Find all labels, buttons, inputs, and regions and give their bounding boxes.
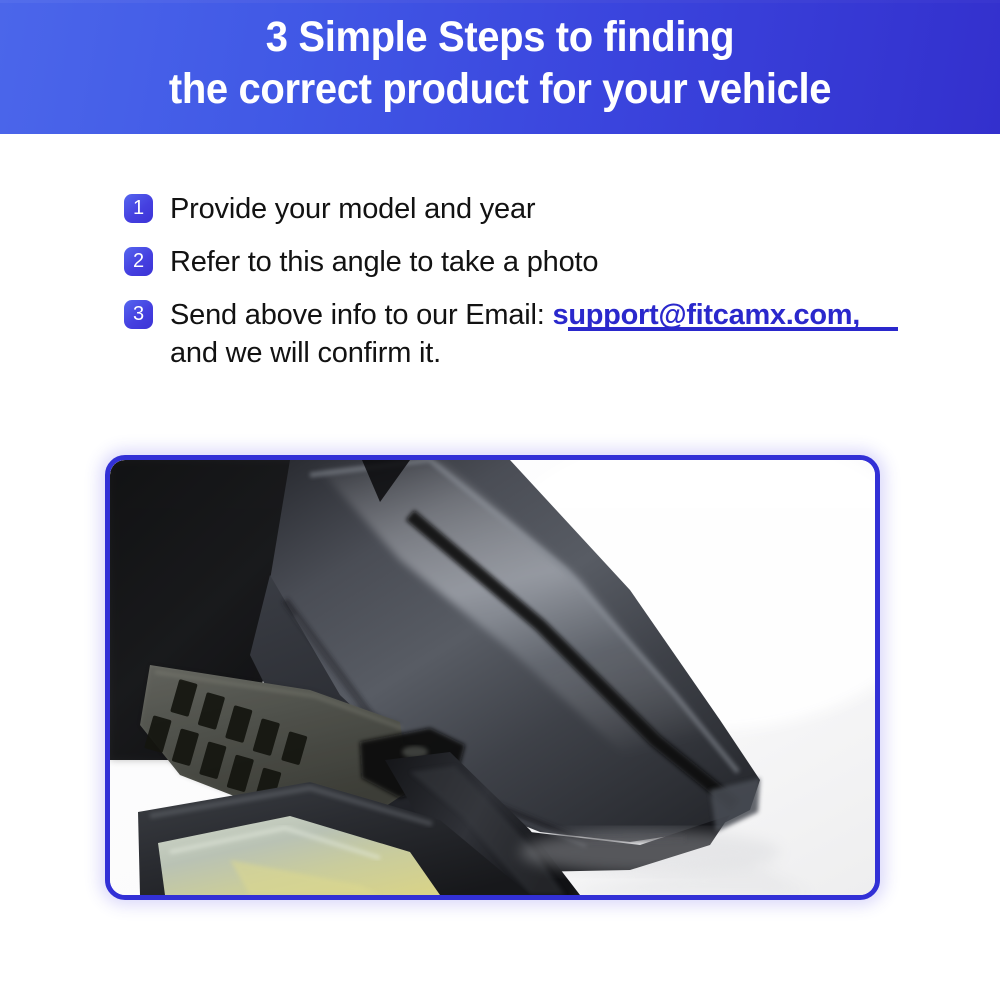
steps-list: 1 Provide your model and year 2 Refer to… [124, 190, 924, 372]
step-label-3: Send above info to our Email: support@fi… [170, 296, 860, 372]
step-label-1: Provide your model and year [170, 190, 535, 228]
email-underline [568, 327, 898, 331]
step-number-badge-1: 1 [124, 194, 153, 223]
list-item-step-1: 1 Provide your model and year [124, 190, 924, 235]
header-banner: 3 Simple Steps to finding the correct pr… [0, 0, 1000, 134]
vehicle-mirror-photo [110, 460, 875, 895]
banner-top-rule [0, 0, 1000, 3]
list-item-step-3: 3 Send above info to our Email: support@… [124, 296, 924, 372]
step-label-2: Refer to this angle to take a photo [170, 243, 598, 281]
step-3-lead-text: Send above info to our Email: [170, 299, 553, 331]
step-number-badge-3: 3 [124, 300, 153, 329]
page-title: 3 Simple Steps to finding the correct pr… [35, 12, 965, 114]
reference-photo-frame [105, 455, 880, 900]
step-number-badge-2: 2 [124, 247, 153, 276]
page-title-line-1: 3 Simple Steps to finding [35, 12, 965, 62]
step-3-second-line: and we will confirm it. [170, 334, 860, 372]
page-title-line-2: the correct product for your vehicle [35, 64, 965, 114]
list-item-step-2: 2 Refer to this angle to take a photo [124, 243, 924, 288]
